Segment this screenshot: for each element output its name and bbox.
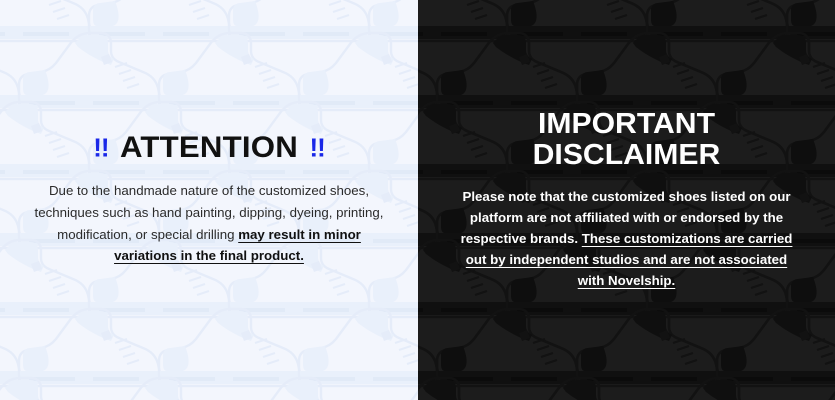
attention-panel: !! ATTENTION !! Due to the handmade natu… xyxy=(0,0,418,400)
disclaimer-heading-line2: DISCLAIMER xyxy=(533,139,721,171)
disclaimer-content: IMPORTANT DISCLAIMER Please note that th… xyxy=(418,109,835,292)
disclaimer-heading: IMPORTANT DISCLAIMER xyxy=(445,109,808,172)
attention-content: !! ATTENTION !! Due to the handmade natu… xyxy=(0,133,418,266)
attention-body: Due to the handmade nature of the custom… xyxy=(34,180,384,266)
disclaimer-heading-line1: IMPORTANT xyxy=(538,108,715,140)
customization-disclaimer-banner: !! ATTENTION !! Due to the handmade natu… xyxy=(0,0,835,400)
disclaimer-body: Please note that the customized shoes li… xyxy=(452,186,801,291)
disclaimer-panel: IMPORTANT DISCLAIMER Please note that th… xyxy=(418,0,835,400)
attention-heading-text: ATTENTION xyxy=(120,133,298,163)
exclamation-mark-prefix-icon: !! xyxy=(93,135,108,161)
attention-heading: !! ATTENTION !! xyxy=(27,133,391,163)
exclamation-mark-suffix-icon: !! xyxy=(309,135,324,161)
